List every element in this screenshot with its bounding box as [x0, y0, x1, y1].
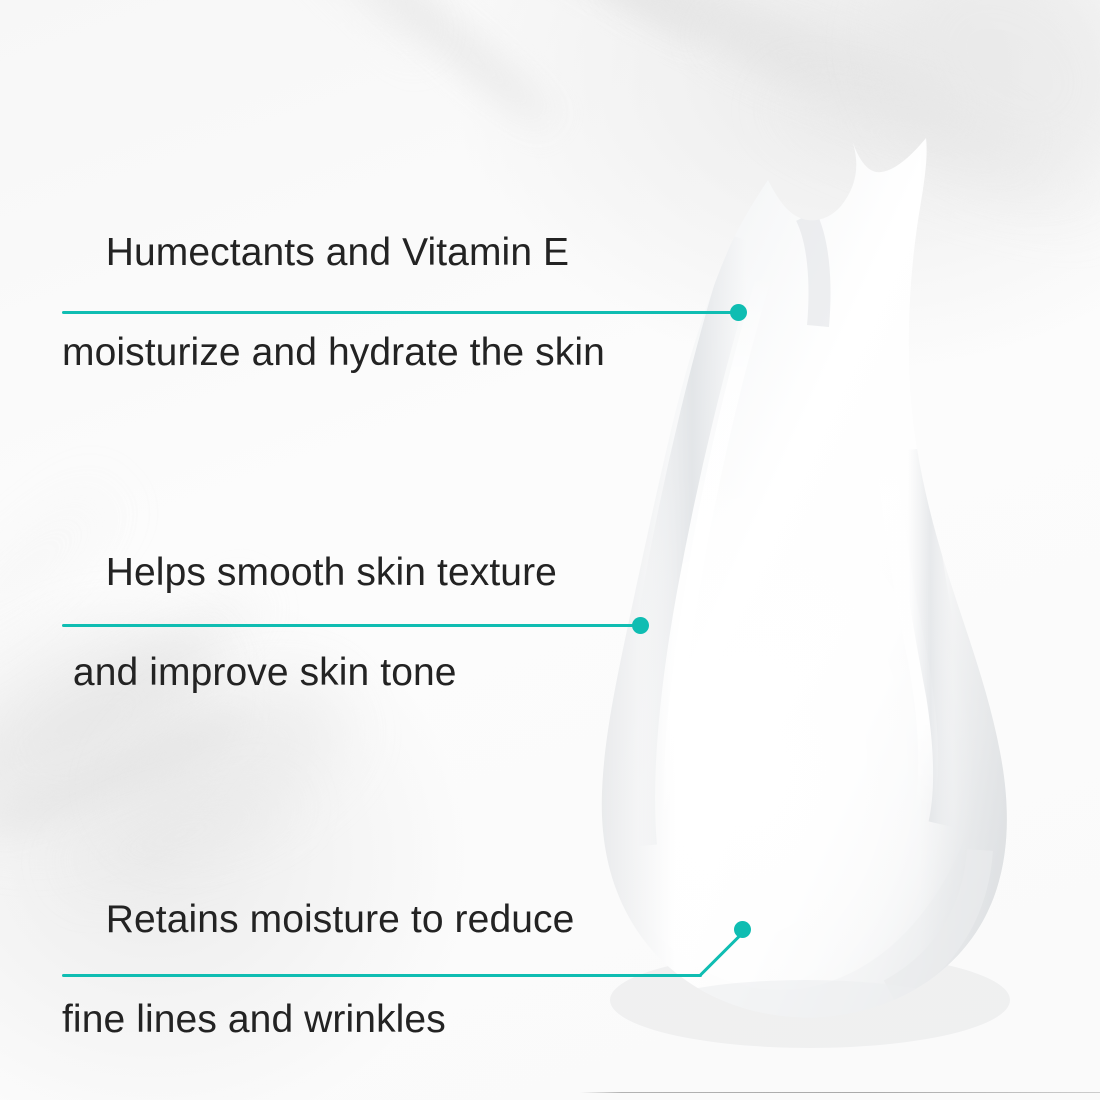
- benefit-line-2: moisturize and hydrate the skin: [62, 328, 605, 378]
- connector-dot-hydration: [730, 304, 747, 321]
- surface-edge-line: [580, 1092, 1100, 1093]
- connector-dot-anti-aging: [734, 921, 751, 938]
- benefit-text-texture: Helps smooth skin texture and improve sk…: [62, 498, 557, 798]
- benefit-line-1: Humectants and Vitamin E: [106, 231, 569, 274]
- benefit-line-2: fine lines and wrinkles: [62, 995, 574, 1045]
- connector-line-hydration: [62, 311, 740, 314]
- benefit-text-anti-aging: Retains moisture to reduce fine lines an…: [62, 845, 574, 1100]
- benefit-text-hydration: Humectants and Vitamin E moisturize and …: [62, 178, 605, 478]
- connector-line-anti-aging: [62, 974, 702, 977]
- connector-dot-texture: [632, 617, 649, 634]
- cream-dollop: [560, 120, 1080, 1050]
- benefit-line-2: and improve skin tone: [62, 648, 557, 698]
- benefit-line-1: Retains moisture to reduce: [106, 898, 575, 941]
- benefit-line-1: Helps smooth skin texture: [106, 551, 557, 594]
- connector-line-texture: [62, 624, 642, 627]
- infographic-canvas: Humectants and Vitamin E moisturize and …: [0, 0, 1100, 1100]
